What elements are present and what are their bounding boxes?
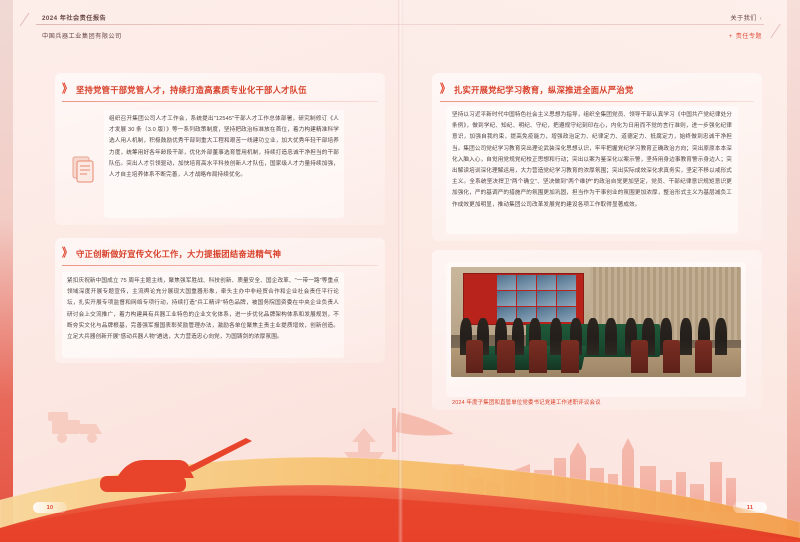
section-title-talent: 坚持党管干部党管人才，持续打造高素质专业化干部人才队伍 <box>76 84 307 96</box>
section-heading-culture: 》 守正创新做好宣传文化工作，大力提振团结奋进精气神 <box>62 248 281 260</box>
photo-video-wall <box>497 275 575 322</box>
page-gutter <box>398 0 403 542</box>
party-meeting-photo <box>451 267 741 377</box>
section-heading-discipline: 》 扎实开展党纪学习教育，纵深推进全面从严治党 <box>440 84 634 96</box>
double-chevron-icon: 》 <box>440 84 448 96</box>
body-text-talent: 组织召开集团公司人才工作会，系统提出"12545"干部人才工作总体部署，研究制修… <box>104 110 344 185</box>
photo-chairs <box>451 340 741 373</box>
double-chevron-icon: 》 <box>62 84 70 96</box>
body-text-culture: 紧扣庆祝新中国成立 75 周年主题主线，聚焦强军胜战、科技创新、质量安全、国企改… <box>62 272 344 347</box>
nav-about-label: 关于我们 <box>730 15 756 22</box>
body-box-talent: 组织召开集团公司人才工作会，系统提出"12545"干部人才工作总体部署，研究制修… <box>104 110 344 218</box>
report-title: 2024 年社会责任报告 <box>42 13 106 22</box>
section-rule-discipline <box>440 101 754 102</box>
page-number-left: 10 <box>33 502 67 513</box>
chevron-left-icon: ‹ <box>760 16 762 22</box>
plus-icon: + <box>729 34 733 40</box>
report-spread: 2024 年社会责任报告 中国兵器工业集团有限公司 关于我们‹ +责任专题 》 … <box>0 0 800 542</box>
body-box-culture: 紧扣庆祝新中国成立 75 周年主题主线，聚焦强军胜战、科技创新、质量安全、国企改… <box>62 272 344 358</box>
document-icon <box>70 155 96 185</box>
meeting-photo-frame <box>446 262 746 397</box>
body-text-discipline: 坚持以习近平新时代中国特色社会主义思想为指导，组织全集团党员、领导干部认真学习《… <box>446 106 738 215</box>
section-title-culture: 守正创新做好宣传文化工作，大力提振团结奋进精气神 <box>76 248 281 260</box>
nav-about-us[interactable]: 关于我们‹ <box>730 13 762 22</box>
company-name: 中国兵器工业集团有限公司 <box>42 31 122 40</box>
section-rule-talent <box>62 101 378 102</box>
nav-topic-label: 责任专题 <box>736 33 762 40</box>
section-title-discipline: 扎实开展党纪学习教育，纵深推进全面从严治党 <box>454 84 634 96</box>
section-rule-culture <box>62 265 378 266</box>
section-heading-talent: 》 坚持党管干部党管人才，持续打造高素质专业化干部人才队伍 <box>62 84 307 96</box>
body-box-discipline: 坚持以习近平新时代中国特色社会主义思想为指导，组织全集团党员、领导干部认真学习《… <box>446 106 738 234</box>
military-truck-silhouette <box>48 412 102 443</box>
nav-responsibility-topic[interactable]: +责任专题 <box>729 31 762 40</box>
page-number-right: 11 <box>733 502 767 513</box>
double-chevron-icon: 》 <box>62 248 70 260</box>
